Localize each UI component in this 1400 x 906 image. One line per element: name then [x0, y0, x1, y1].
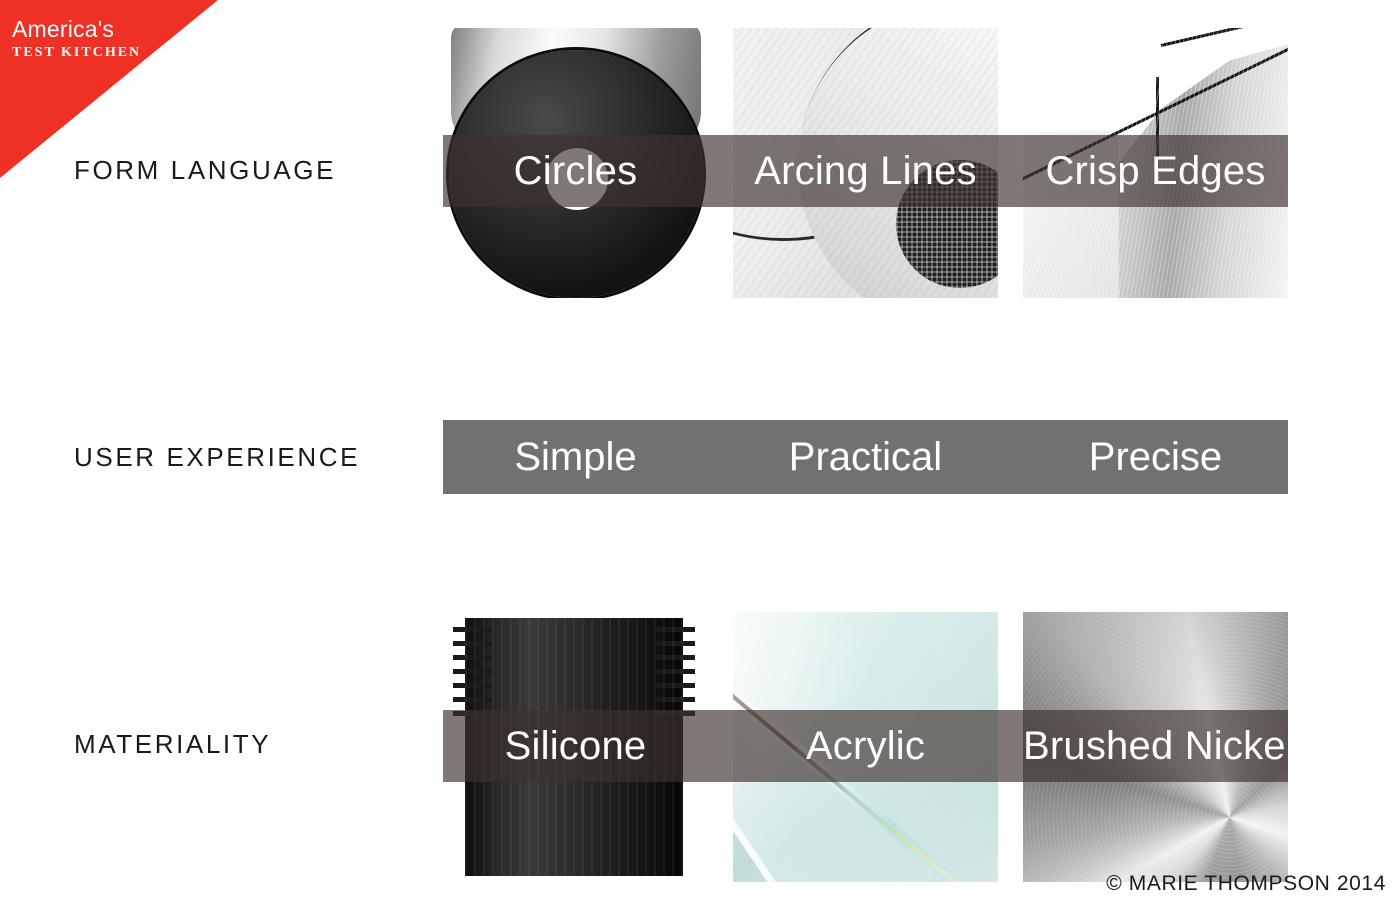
row-label-materiality: MATERIALITY: [74, 729, 271, 760]
caption-silicone: Silicone: [443, 710, 708, 782]
caption-arcing-lines: Arcing Lines: [733, 135, 998, 207]
brand-name-secondary: TEST KITCHEN: [12, 46, 141, 60]
materiality-caption-band: Silicone Acrylic Brushed Nickel: [443, 710, 1288, 782]
brand-text: America's TEST KITCHEN: [12, 18, 141, 60]
row-label-user-experience: USER EXPERIENCE: [74, 442, 360, 473]
caption-crisp-edges: Crisp Edges: [1023, 135, 1288, 207]
brand-name-primary: America's: [12, 18, 141, 41]
caption-simple: Simple: [443, 420, 708, 494]
caption-acrylic: Acrylic: [733, 710, 998, 782]
user-experience-band: Simple Practical Precise: [443, 420, 1288, 494]
caption-precise: Precise: [1023, 420, 1288, 494]
copyright-credit: © MARIE THOMPSON 2014: [1106, 872, 1386, 896]
brand-logo: America's TEST KITCHEN: [0, 0, 218, 178]
design-language-slide: America's TEST KITCHEN FORM LANGUAGE USE…: [0, 0, 1400, 906]
form-language-caption-band: Circles Arcing Lines Crisp Edges: [443, 135, 1288, 207]
caption-brushed-nickel: Brushed Nickel: [1023, 710, 1288, 782]
caption-practical: Practical: [733, 420, 998, 494]
caption-circles: Circles: [443, 135, 708, 207]
